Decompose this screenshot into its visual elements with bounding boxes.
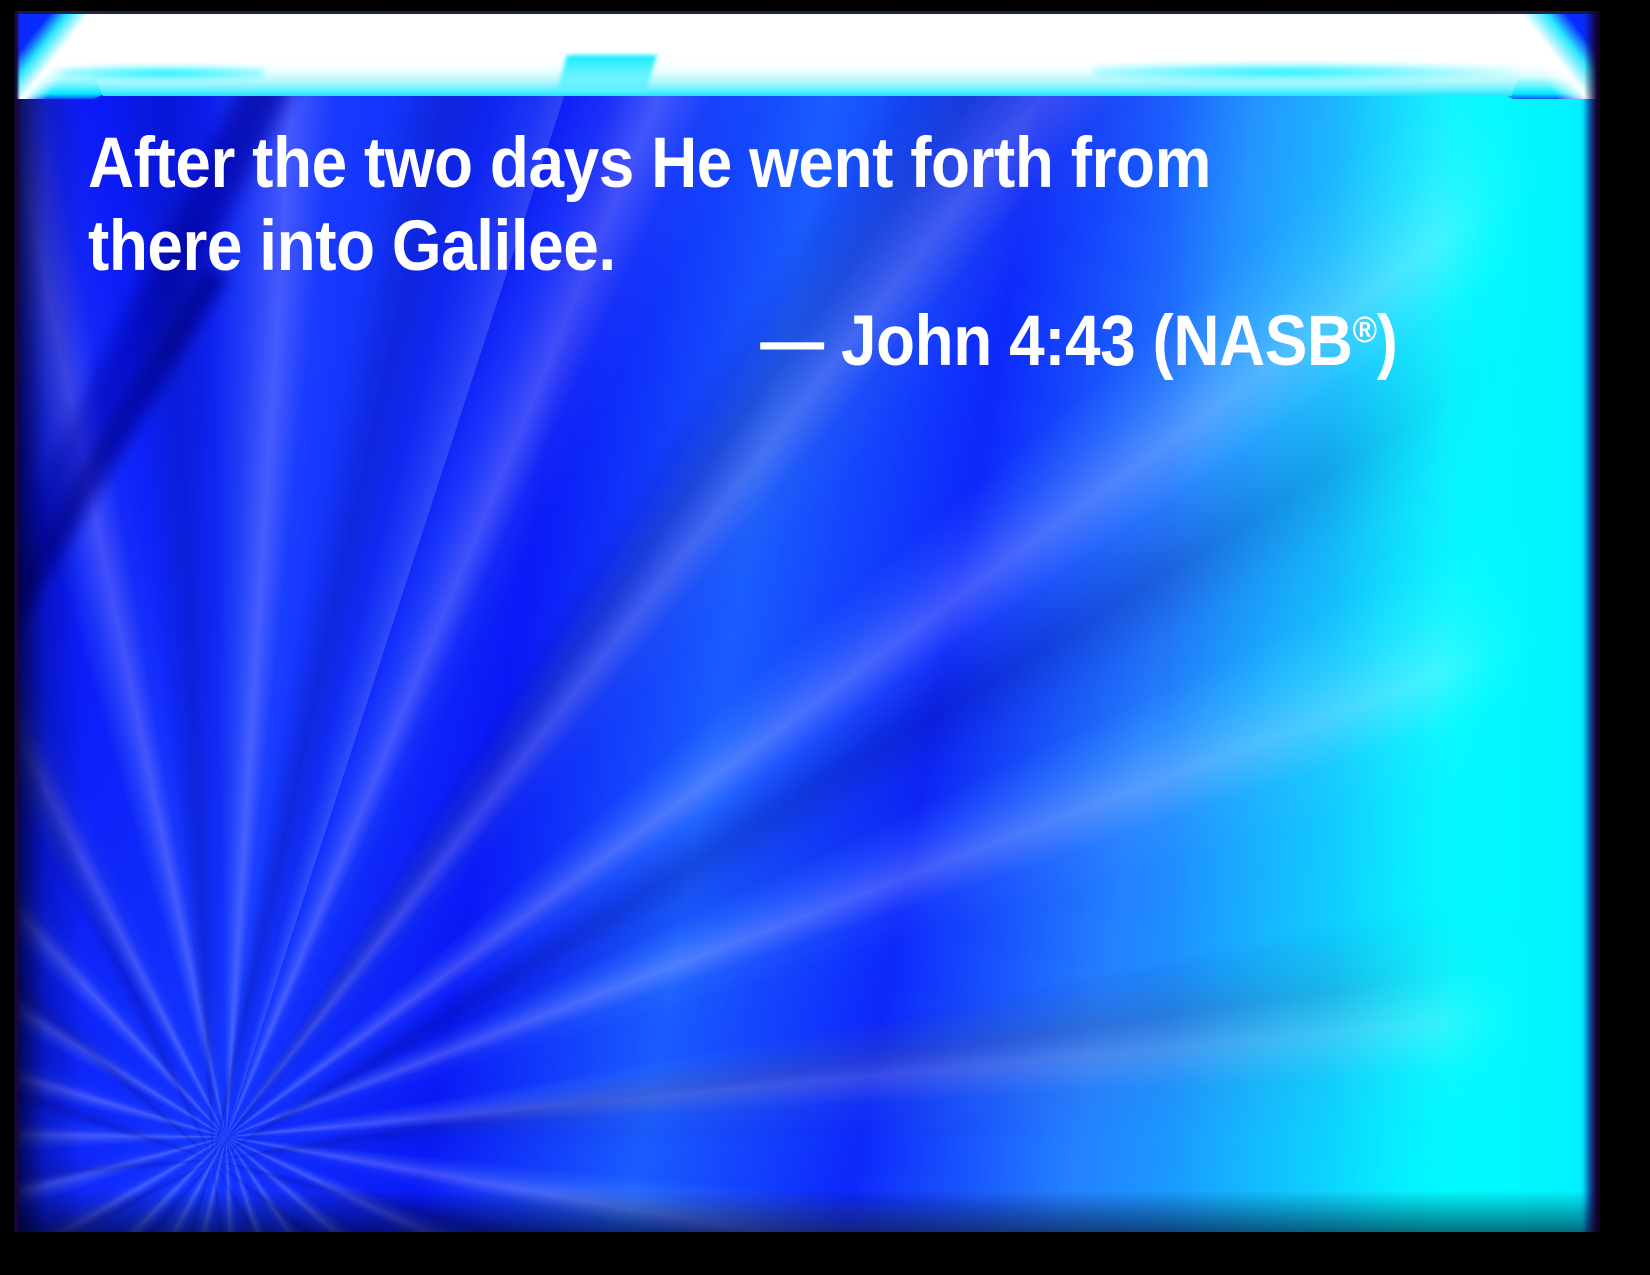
frame-border-left <box>0 0 14 1275</box>
verse-slide: After the two days He went forth from th… <box>0 0 1650 1275</box>
frame-border-right <box>1600 0 1650 1275</box>
attribution-spacer-2 <box>992 302 1009 381</box>
attribution-translation-open: (NASB <box>1153 302 1353 381</box>
attribution-dash: — <box>760 302 823 381</box>
frame-border-top <box>0 0 1650 11</box>
attribution-spacer-3 <box>1135 302 1152 381</box>
verse-text: After the two days He went forth from th… <box>88 122 1285 288</box>
attribution-book: John <box>841 302 992 381</box>
verse-attribution: — John 4:43 (NASB®) <box>88 288 1398 383</box>
frame-border-bottom <box>0 1232 1650 1275</box>
attribution-reference: 4:43 <box>1009 302 1135 381</box>
registered-trademark-icon: ® <box>1353 309 1377 350</box>
attribution-spacer <box>824 302 841 381</box>
attribution-translation-close: ) <box>1377 302 1398 381</box>
text-layer: After the two days He went forth from th… <box>0 0 1650 1275</box>
